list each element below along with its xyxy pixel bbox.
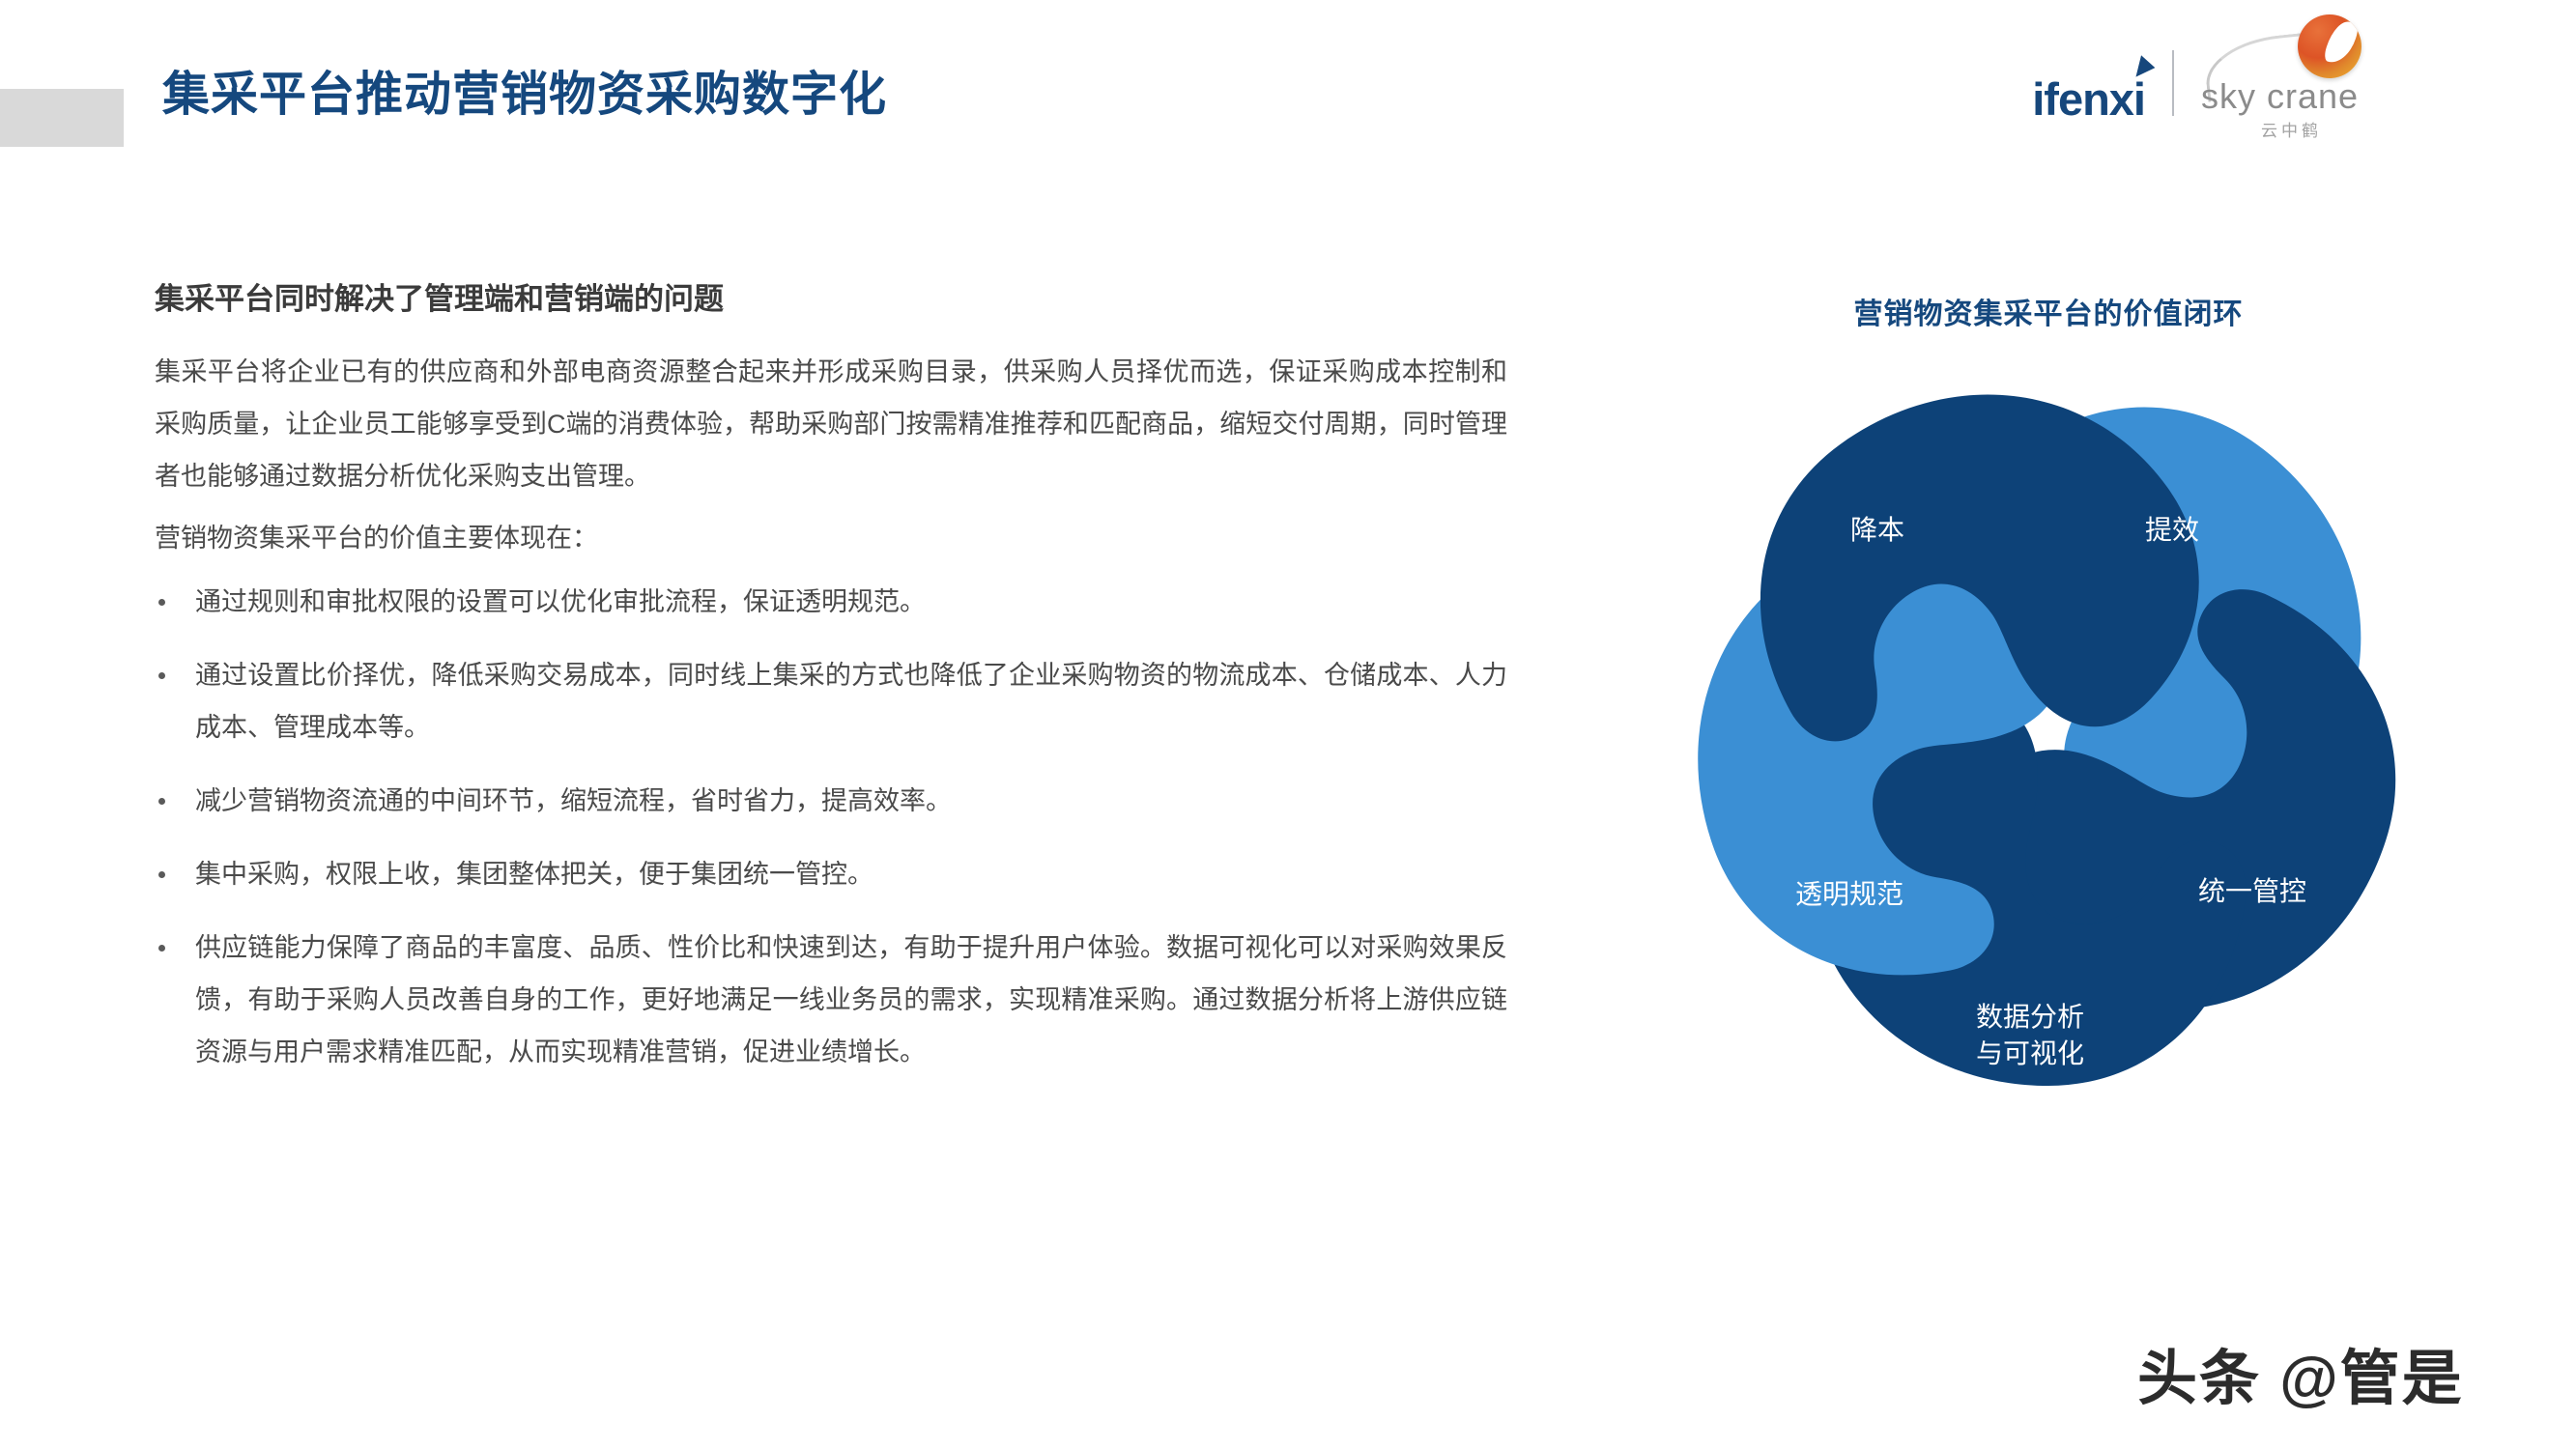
diagram-title: 营销物资集采平台的价值闭环 xyxy=(1585,290,2512,332)
ifenxi-tick-icon xyxy=(2135,55,2157,80)
value-bullet-list: 通过规则和审批权限的设置可以优化审批流程，保证透明规范。 通过设置比价择优，降低… xyxy=(155,576,1507,1078)
right-diagram-column: 营销物资集采平台的价值闭环 提效 统一管控 数据分析 xyxy=(1585,290,2512,1113)
ifenxi-logo: ifenxi xyxy=(2032,76,2151,129)
list-item: 通过设置比价择优，降低采购交易成本，同时线上集采的方式也降低了企业采购物资的物流… xyxy=(155,649,1507,753)
skycrane-wordmark: sky crane xyxy=(2201,76,2359,117)
title-accent-block xyxy=(0,89,124,147)
skycrane-chinese-name: 云中鹤 xyxy=(2261,117,2322,141)
list-item: 集中采购，权限上收，集团整体把关，便于集团统一管控。 xyxy=(155,848,1507,900)
intro-paragraph: 集采平台将企业已有的供应商和外部电商资源整合起来并形成采购目录，供采购人员择优而… xyxy=(155,346,1507,502)
skycrane-logo: sky crane 云中鹤 xyxy=(2197,32,2416,134)
ifenxi-logo-text: ifenxi xyxy=(2032,73,2145,125)
page-title: 集采平台推动营销物资采购数字化 xyxy=(162,70,887,122)
list-item: 通过规则和审批权限的设置可以优化审批流程，保证透明规范。 xyxy=(155,576,1507,628)
value-loop-diagram: 提效 统一管控 数据分析 与可视化 透明规范 降本 xyxy=(1681,350,2416,1113)
value-loop-svg xyxy=(1681,350,2416,1113)
watermark: 头条 @管是 xyxy=(2137,1329,2464,1416)
section-heading: 集采平台同时解决了管理端和营销端的问题 xyxy=(155,280,1507,319)
page-header: 集采平台推动营销物资采购数字化 ifenxi sky crane 云中鹤 xyxy=(0,0,2576,193)
list-item: 供应链能力保障了商品的丰富度、品质、性价比和快速到达，有助于提升用户体验。数据可… xyxy=(155,922,1507,1078)
left-content-column: 集采平台同时解决了管理端和营销端的问题 集采平台将企业已有的供应商和外部电商资源… xyxy=(155,280,1507,1099)
list-item: 减少营销物资流通的中间环节，缩短流程，省时省力，提高效率。 xyxy=(155,775,1507,827)
skycrane-flame-icon xyxy=(2323,17,2361,68)
petal-group xyxy=(1681,350,2416,1086)
logo-group: ifenxi sky crane 云中鹤 xyxy=(2032,37,2416,129)
skycrane-globe-icon xyxy=(2298,14,2361,78)
value-list-lead: 营销物资集采平台的价值主要体现在： xyxy=(155,512,1507,564)
logo-divider xyxy=(2172,50,2174,116)
